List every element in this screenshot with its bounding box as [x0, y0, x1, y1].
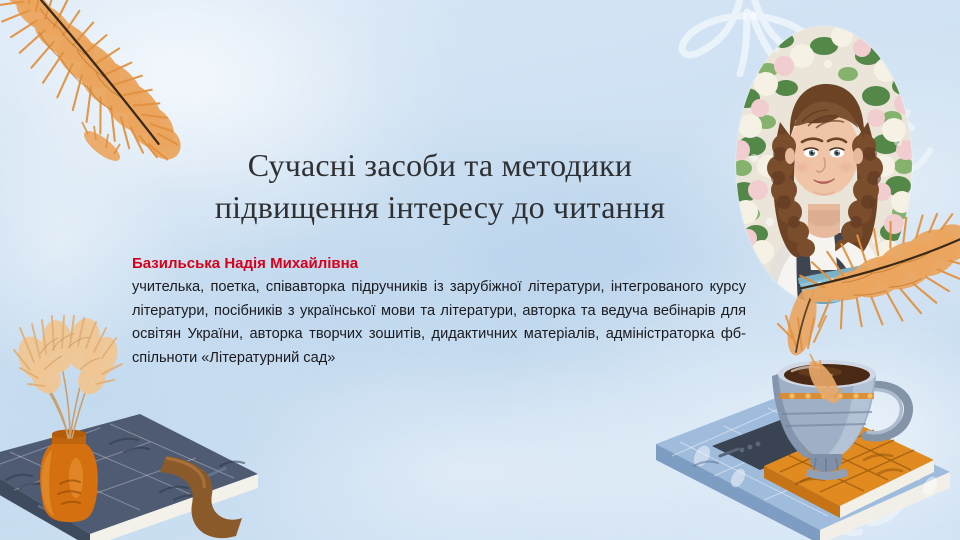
title-line-1: Сучасні засоби та методики: [120, 144, 760, 186]
slide-canvas: Сучасні засоби та методики підвищення ін…: [0, 0, 960, 540]
title-line-2: підвищення інтересу до читання: [120, 186, 760, 228]
presenter-portrait: [736, 26, 912, 304]
presenter-bio: Базильська Надія Михайлівна учителька, п…: [132, 253, 746, 370]
presenter-name: Базильська Надія Михайлівна: [132, 253, 746, 274]
presenter-description: учителька, поетка, співавторка підручник…: [132, 276, 746, 370]
slide-title: Сучасні засоби та методики підвищення ін…: [120, 144, 760, 228]
